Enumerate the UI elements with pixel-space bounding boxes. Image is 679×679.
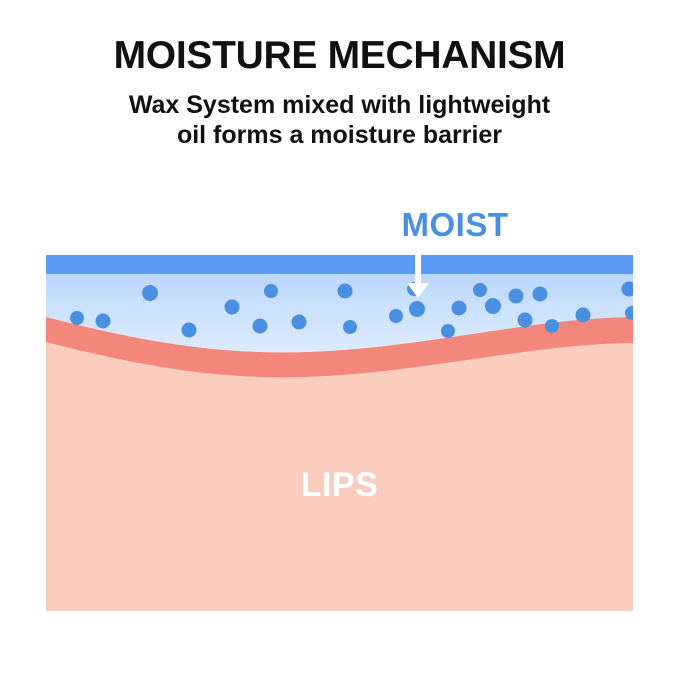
page-subtitle: Wax System mixed with lightweight oil fo… <box>0 90 679 150</box>
moisture-droplet <box>142 285 158 301</box>
moist-label: MOIST <box>330 208 580 241</box>
moisture-droplet <box>338 284 353 299</box>
moisture-droplet <box>389 309 403 323</box>
wax-bar-layer <box>46 255 633 274</box>
moisture-droplet <box>343 320 357 334</box>
moisture-droplet <box>264 284 278 298</box>
moisture-droplet <box>518 313 533 328</box>
moisture-droplet <box>533 287 548 302</box>
moisture-droplet <box>182 323 197 338</box>
moisture-droplet <box>473 283 487 297</box>
moisture-droplet <box>576 308 591 323</box>
moisture-droplet <box>409 301 425 317</box>
moisture-droplet <box>485 298 501 314</box>
lips-label: LIPS <box>46 468 633 502</box>
moisture-droplet <box>225 300 240 315</box>
moisture-droplet <box>96 314 111 329</box>
lip-cross-section-diagram <box>46 247 633 611</box>
page-subtitle-line-1: Wax System mixed with lightweight <box>0 90 679 120</box>
moisture-droplet <box>509 289 524 304</box>
moisture-droplet <box>452 301 467 316</box>
moisture-droplet <box>292 315 307 330</box>
moisture-droplet <box>253 319 268 334</box>
page-subtitle-line-2: oil forms a moisture barrier <box>0 120 679 150</box>
moisture-droplet <box>545 319 559 333</box>
page-title: MOISTURE MECHANISM <box>0 36 679 75</box>
illustration-canvas: MOISTURE MECHANISM Wax System mixed with… <box>0 0 679 679</box>
moisture-droplet <box>441 324 455 338</box>
moisture-droplet <box>70 311 84 325</box>
